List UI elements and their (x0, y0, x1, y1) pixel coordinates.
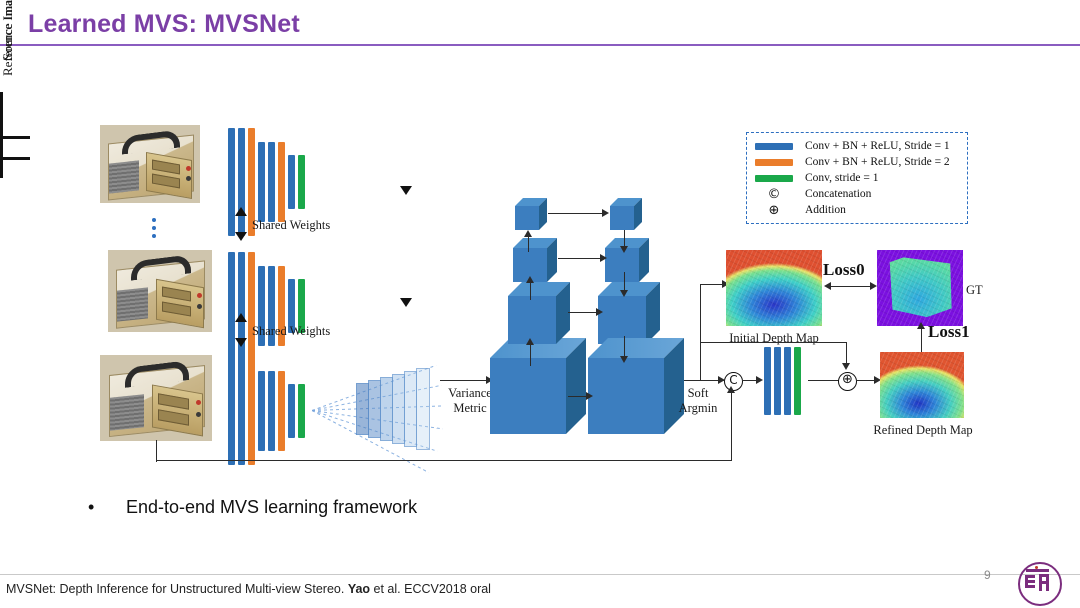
conv-bar-1 (238, 128, 245, 236)
source-image-thumbnail-1 (100, 125, 200, 203)
reference-feedback-h (156, 460, 732, 461)
conv-bar-3 (258, 371, 265, 451)
cost-volume-cube-encoder-2 (513, 238, 557, 282)
cost-volume-cube-decoder-2 (605, 238, 649, 282)
conv-bar-0 (228, 252, 235, 360)
addition-icon: ⊕ (755, 204, 793, 217)
legend-label-0: Conv + BN + ReLU, Stride = 1 (805, 140, 950, 152)
footnote-suffix: et al. ECCV2018 oral (370, 582, 491, 596)
depth-feedback-head (718, 376, 725, 384)
legend-row-4: ⊕ Addition (747, 203, 967, 217)
feature-tower-3 (228, 357, 305, 467)
legend-row-2: Conv, stride = 1 (747, 171, 967, 185)
refined-depth-map-image (880, 352, 964, 418)
add-skip-h (700, 342, 847, 343)
legend-label-1: Conv + BN + ReLU, Stride = 2 (805, 156, 950, 168)
shared-weights-arrow-1-line (0, 92, 3, 114)
source-elbow-arrow-2-head (400, 298, 412, 307)
encoder-arrow-2-3-line (528, 236, 529, 252)
loss1-arrow-up-head (917, 322, 925, 329)
cost-volume-cube-encoder-3 (515, 198, 547, 230)
source-elbow-arrow-1-head (400, 186, 412, 195)
shared-weights-arrow-1-down (235, 232, 247, 241)
conv-bar-1 (238, 357, 245, 465)
shared-weights-arrow-2-down (235, 338, 247, 347)
decoder-arrow-2-1-head (620, 290, 628, 297)
add-skip-head (842, 363, 850, 370)
addition-node: ⊕ (838, 372, 857, 391)
shared-weights-arrow-2-line (0, 114, 3, 136)
legend-row-1: Conv + BN + ReLU, Stride = 2 (747, 155, 967, 169)
skip-connection-0-head (586, 392, 593, 400)
initial-depth-map-label: Initial Depth Map (724, 331, 824, 346)
soft-argmin-label-line2: Argmin (668, 401, 728, 416)
legend-box: Conv + BN + ReLU, Stride = 1 Conv + BN +… (746, 132, 968, 224)
conv-bar-0 (228, 128, 235, 236)
reference-feedback-start-v (156, 440, 157, 462)
encoder-arrow-0-1-head (526, 338, 534, 345)
loss0-label: Loss0 (823, 260, 865, 280)
loss1-label: Loss1 (928, 322, 970, 342)
university-seal-logo (1018, 562, 1062, 606)
ground-truth-depth-map-image (877, 250, 963, 326)
conv-bar-5 (278, 142, 285, 222)
initial-depth-branch-h (700, 284, 724, 285)
conv-bar-7 (298, 155, 305, 209)
conv-bar-5 (278, 371, 285, 451)
legend-row-3: © Concatenation (747, 187, 967, 201)
conv-bar-0 (228, 357, 235, 465)
conv-bar-1 (774, 347, 781, 415)
label-reference-image: Reference Image (0, 0, 16, 76)
shared-weights-arrow-2-up (235, 313, 247, 322)
source-image-thumbnail-2 (108, 250, 212, 332)
conv-bar-4 (268, 371, 275, 451)
decoder-arrow-3-2-head (620, 246, 628, 253)
conv-bar-6 (288, 155, 295, 209)
footnote-citation: MVSNet: Depth Inference for Unstructured… (6, 582, 491, 596)
footer-divider (0, 574, 1080, 575)
shared-weights-label-2: Shared Weights (252, 324, 330, 339)
decoder-arrow-2-1-line (624, 272, 625, 292)
reference-feedback-head (727, 386, 735, 393)
conv-bar-7 (298, 384, 305, 438)
conv-bar-2 (784, 347, 791, 415)
skip-connection-2-head (600, 254, 607, 262)
soft-argmin-label-line1: Soft (668, 386, 728, 401)
footnote-prefix: MVSNet: Depth Inference for Unstructured… (6, 582, 348, 596)
source-elbow-arrow-2-v (0, 160, 3, 178)
footnote-author: Yao (348, 582, 370, 596)
conv-bar-4 (268, 142, 275, 222)
page-number: 9 (984, 568, 991, 582)
legend-swatch-conv-stride1 (755, 143, 793, 150)
initial-depth-map-image (726, 250, 822, 326)
shared-weights-label-1: Shared Weights (252, 218, 330, 233)
skip-connection-1-head (596, 308, 603, 316)
legend-swatch-conv-stride2 (755, 159, 793, 166)
legend-label-4: Addition (805, 204, 846, 216)
page-title: Learned MVS: MVSNet (28, 10, 300, 39)
variance-metric-arrow-line (440, 380, 488, 381)
concatenation-icon: © (755, 188, 793, 201)
reference-feedback-end-v (731, 392, 732, 461)
encoder-arrow-0-1-line (530, 344, 531, 366)
legend-label-2: Conv, stride = 1 (805, 172, 878, 184)
encoder-arrow-1-2-head (526, 276, 534, 283)
conv-bar-3 (258, 142, 265, 222)
reference-image-thumbnail (100, 355, 212, 441)
bullet-text: End-to-end MVS learning framework (126, 497, 417, 518)
loss0-arrow-line (828, 286, 874, 287)
conv-bar-3 (794, 347, 801, 415)
source-elbow-arrow-1-h (0, 136, 30, 139)
conv-bar-2 (248, 252, 255, 360)
refined-depth-map-label: Refined Depth Map (866, 423, 980, 438)
loss0-arrow-left-head (824, 282, 831, 290)
decoder-arrow-1-0-head (620, 356, 628, 363)
bullet-marker: • (88, 497, 126, 518)
plane-sweep-frustum (310, 355, 440, 465)
ellipsis-dots (152, 218, 156, 242)
legend-row-0: Conv + BN + ReLU, Stride = 1 (747, 139, 967, 153)
bullet-list-item-0: • End-to-end MVS learning framework (88, 497, 417, 518)
encoder-arrow-2-3-head (524, 230, 532, 237)
skip-connection-2-line (558, 258, 604, 259)
decoder-arrow-1-0-line (624, 336, 625, 358)
depth-feedback-v (700, 284, 701, 381)
shared-weights-arrow-1-up (235, 207, 247, 216)
loss0-arrow-right-head (870, 282, 877, 290)
cost-volume-cube-encoder-0 (490, 338, 586, 434)
encoder-arrow-1-2-line (530, 282, 531, 300)
conv-bar-6 (288, 384, 295, 438)
legend-label-3: Concatenation (805, 188, 871, 200)
concat-to-refine-head (756, 376, 763, 384)
conv-bar-0 (764, 347, 771, 415)
source-elbow-arrow-1-v (0, 139, 3, 157)
cost-volume-cube-encoder-1 (508, 282, 570, 344)
cost-volume-cube-decoder-1 (598, 282, 660, 344)
conv-bar-2 (248, 357, 255, 465)
skip-connection-3-head (602, 209, 609, 217)
source-elbow-arrow-2-h (0, 157, 30, 160)
slide-root: Learned MVS: MVSNet Source Images Refere… (0, 0, 1080, 608)
skip-connection-3-line (548, 213, 604, 214)
mvsnet-architecture-figure: Source Images Reference Image (0, 60, 1080, 480)
refinement-tower (764, 347, 801, 415)
cost-volume-cube-decoder-3 (610, 198, 642, 230)
legend-swatch-conv-plain (755, 175, 793, 182)
title-underline-rule (0, 44, 1080, 46)
ground-truth-label: GT (966, 283, 983, 298)
